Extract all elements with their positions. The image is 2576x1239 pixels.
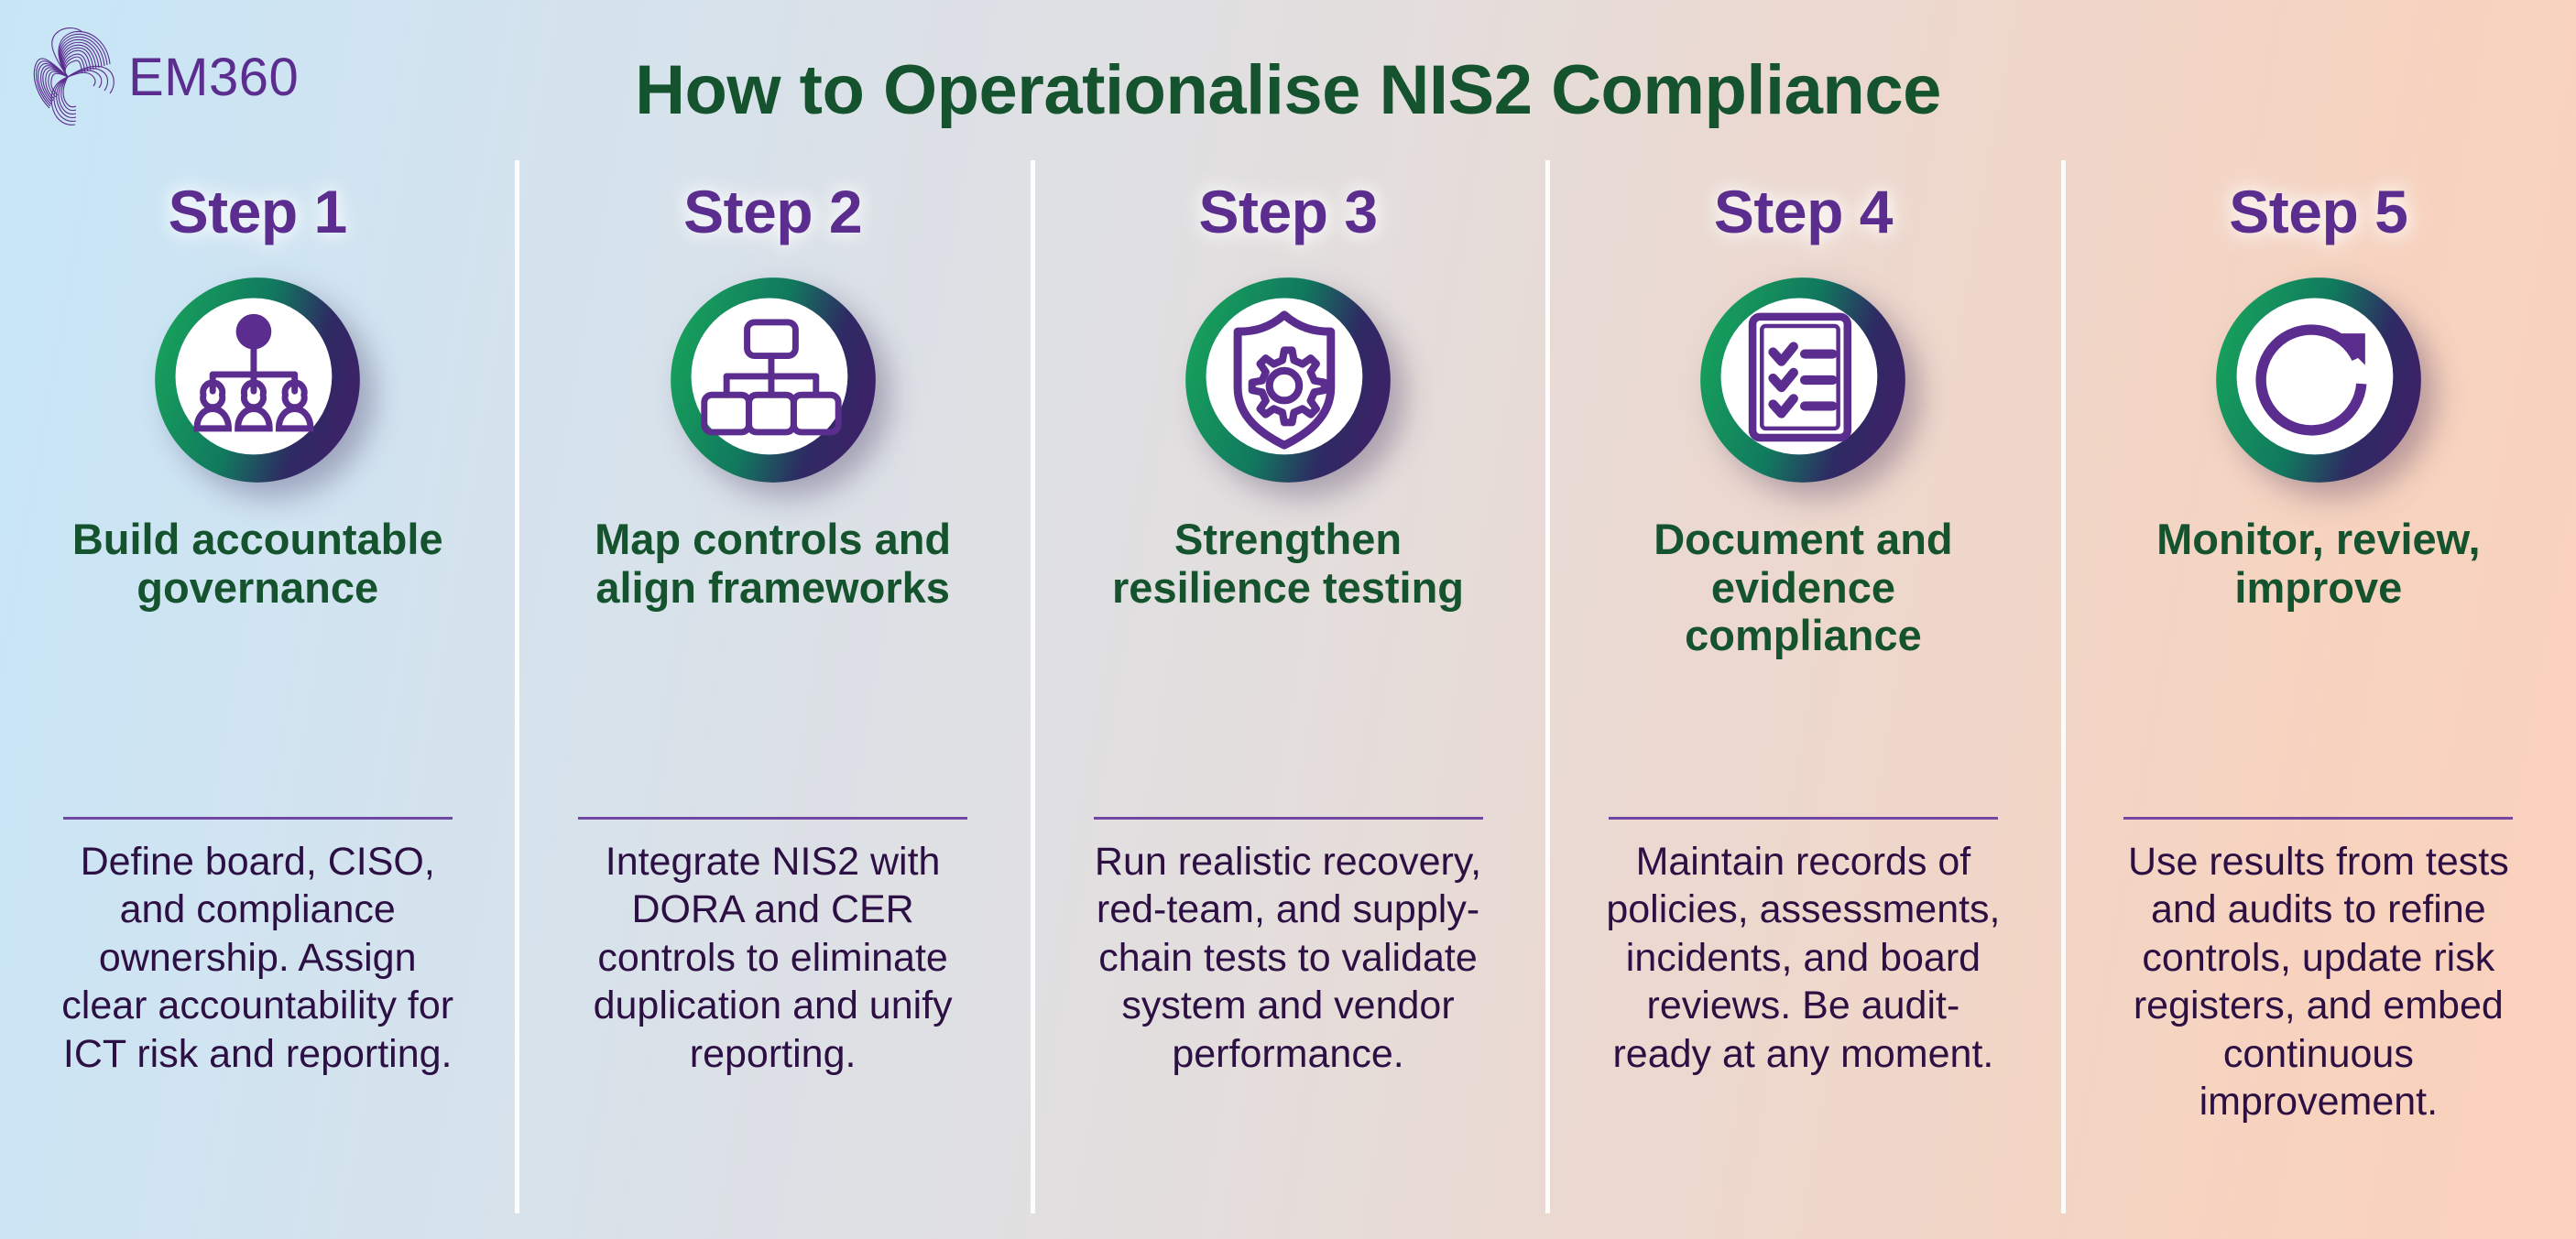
step-icon-5	[2207, 268, 2430, 492]
page-title: How to Operationalise NIS2 Compliance	[0, 50, 2576, 130]
step-label-4: Step 4	[1714, 177, 1893, 246]
step-column-5: Step 5 Monitor, review, improve	[2061, 169, 2576, 1213]
steps-row: Step 1	[0, 169, 2576, 1239]
step-heading-block-3: Strengthen resilience testing	[1056, 492, 1520, 794]
step-column-2: Step 2	[515, 169, 1030, 1213]
step-heading-block-1: Build accountable governance	[26, 492, 489, 794]
step-heading-block-4: Document and evidence compliance	[1571, 492, 2035, 794]
refresh-cycle-icon	[2207, 268, 2430, 492]
shield-gear-icon	[1176, 268, 1400, 492]
hierarchy-sitemap-icon	[661, 268, 885, 492]
org-chart-people-icon	[146, 268, 369, 492]
step-divider-2	[578, 817, 967, 820]
step-body-1: Define board, CISO, and compliance owner…	[54, 838, 462, 1213]
step-heading-2: Map controls and align frameworks	[576, 516, 970, 612]
step-icon-1	[146, 268, 369, 492]
step-label-5: Step 5	[2229, 177, 2407, 246]
step-icon-4	[1691, 268, 1915, 492]
step-column-1: Step 1	[0, 169, 515, 1213]
step-heading-block-2: Map controls and align frameworks	[540, 492, 1004, 794]
step-heading-3: Strengthen resilience testing	[1091, 516, 1485, 612]
step-divider-5	[2123, 817, 2513, 820]
step-icon-2	[661, 268, 885, 492]
step-heading-4: Document and evidence compliance	[1606, 516, 2000, 660]
step-divider-3	[1094, 817, 1483, 820]
page-header: EM360 How to Operationalise NIS2 Complia…	[0, 0, 2576, 183]
step-body-block-5: Use results from tests and audits to ref…	[2087, 820, 2550, 1213]
step-body-3: Run realistic recovery, red-team, and su…	[1085, 838, 1492, 1213]
step-label-3: Step 3	[1198, 177, 1377, 246]
step-heading-block-5: Monitor, review, improve	[2087, 492, 2550, 794]
checklist-document-icon	[1691, 268, 1915, 492]
step-body-block-4: Maintain records of policies, assessment…	[1571, 820, 2035, 1213]
step-body-block-3: Run realistic recovery, red-team, and su…	[1056, 820, 1520, 1213]
step-body-2: Integrate NIS2 with DORA and CER control…	[569, 838, 977, 1213]
step-heading-1: Build accountable governance	[60, 516, 454, 612]
step-divider-1	[63, 817, 453, 820]
step-column-3: Step 3	[1031, 169, 1545, 1213]
step-label-2: Step 2	[683, 177, 862, 246]
step-heading-5: Monitor, review, improve	[2122, 516, 2516, 612]
step-divider-4	[1609, 817, 1998, 820]
step-body-4: Maintain records of policies, assessment…	[1599, 838, 2007, 1213]
step-body-block-2: Integrate NIS2 with DORA and CER control…	[540, 820, 1004, 1213]
step-body-block-1: Define board, CISO, and compliance owner…	[26, 820, 489, 1213]
step-body-5: Use results from tests and audits to ref…	[2114, 838, 2522, 1213]
step-label-1: Step 1	[169, 177, 347, 246]
step-icon-3	[1176, 268, 1400, 492]
step-column-4: Step 4	[1545, 169, 2060, 1213]
